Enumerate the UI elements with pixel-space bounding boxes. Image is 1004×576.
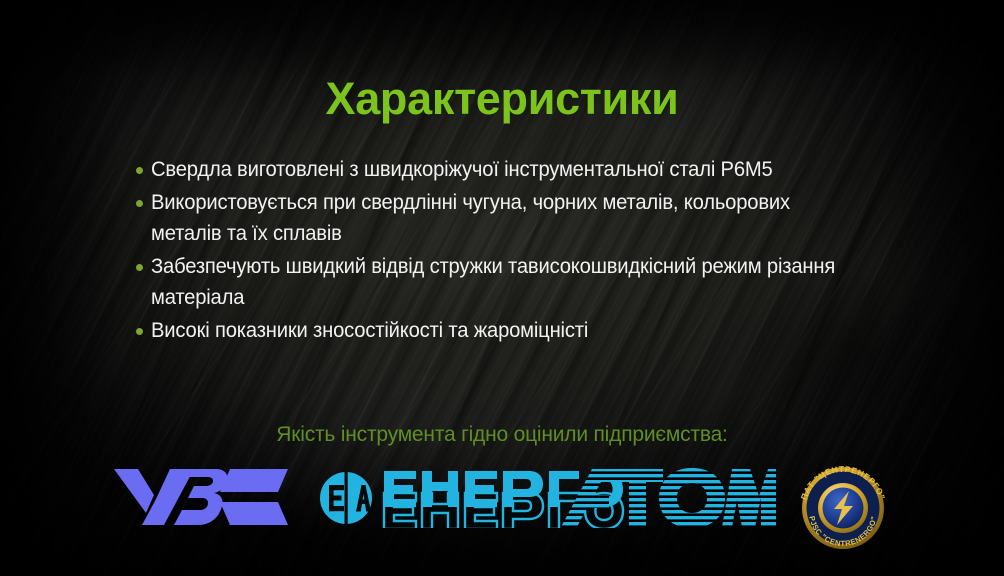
characteristics-list: Свердла виготовлені з швидкоріжучої інст…: [136, 154, 896, 348]
logo-ukrzaliznytsia: [112, 466, 292, 528]
slide-root: Характеристики Свердла виготовлені з шви…: [0, 0, 1004, 576]
list-item: Забезпечують швидкий відвід стружки тави…: [136, 251, 896, 313]
list-item: Високі показники зносостійкості та жаром…: [136, 315, 896, 346]
bullet-dot-icon: [136, 328, 143, 335]
ukrzaliznytsia-icon: [112, 466, 292, 528]
logo-energoatom: [318, 468, 776, 528]
list-item-label: Використовується при свердлінні чугуна, …: [151, 187, 851, 249]
list-item: Свердла виготовлені з швидкоріжучої інст…: [136, 154, 896, 185]
partners-caption: Якість інструмента гідно оцінили підприє…: [0, 422, 1004, 448]
bullet-dot-icon: [136, 200, 143, 207]
partner-logos: ПАТ "ЦЕНТРЕНЕРГО" PJSC "CENTRENERGO": [0, 458, 1004, 558]
list-item-label: Свердла виготовлені з швидкоріжучої інст…: [151, 154, 851, 185]
list-item-label: Забезпечують швидкий відвід стружки тави…: [151, 251, 851, 313]
ea-monogram-icon: [320, 470, 372, 526]
slide-content: Характеристики Свердла виготовлені з шви…: [0, 0, 1004, 576]
list-item: Використовується при свердлінні чугуна, …: [136, 187, 896, 249]
bullet-dot-icon: [136, 264, 143, 271]
centrenergo-icon: ПАТ "ЦЕНТРЕНЕРГО" PJSC "CENTRENERGO": [793, 458, 897, 558]
energoatom-icon: [318, 468, 776, 528]
page-title: Характеристики: [0, 76, 1004, 121]
list-item-label: Високі показники зносостійкості та жаром…: [151, 315, 851, 346]
atom-text: [561, 468, 776, 528]
logo-centrenergo: ПАТ "ЦЕНТРЕНЕРГО" PJSC "CENTRENERGO": [793, 458, 897, 558]
bullet-dot-icon: [136, 167, 143, 174]
